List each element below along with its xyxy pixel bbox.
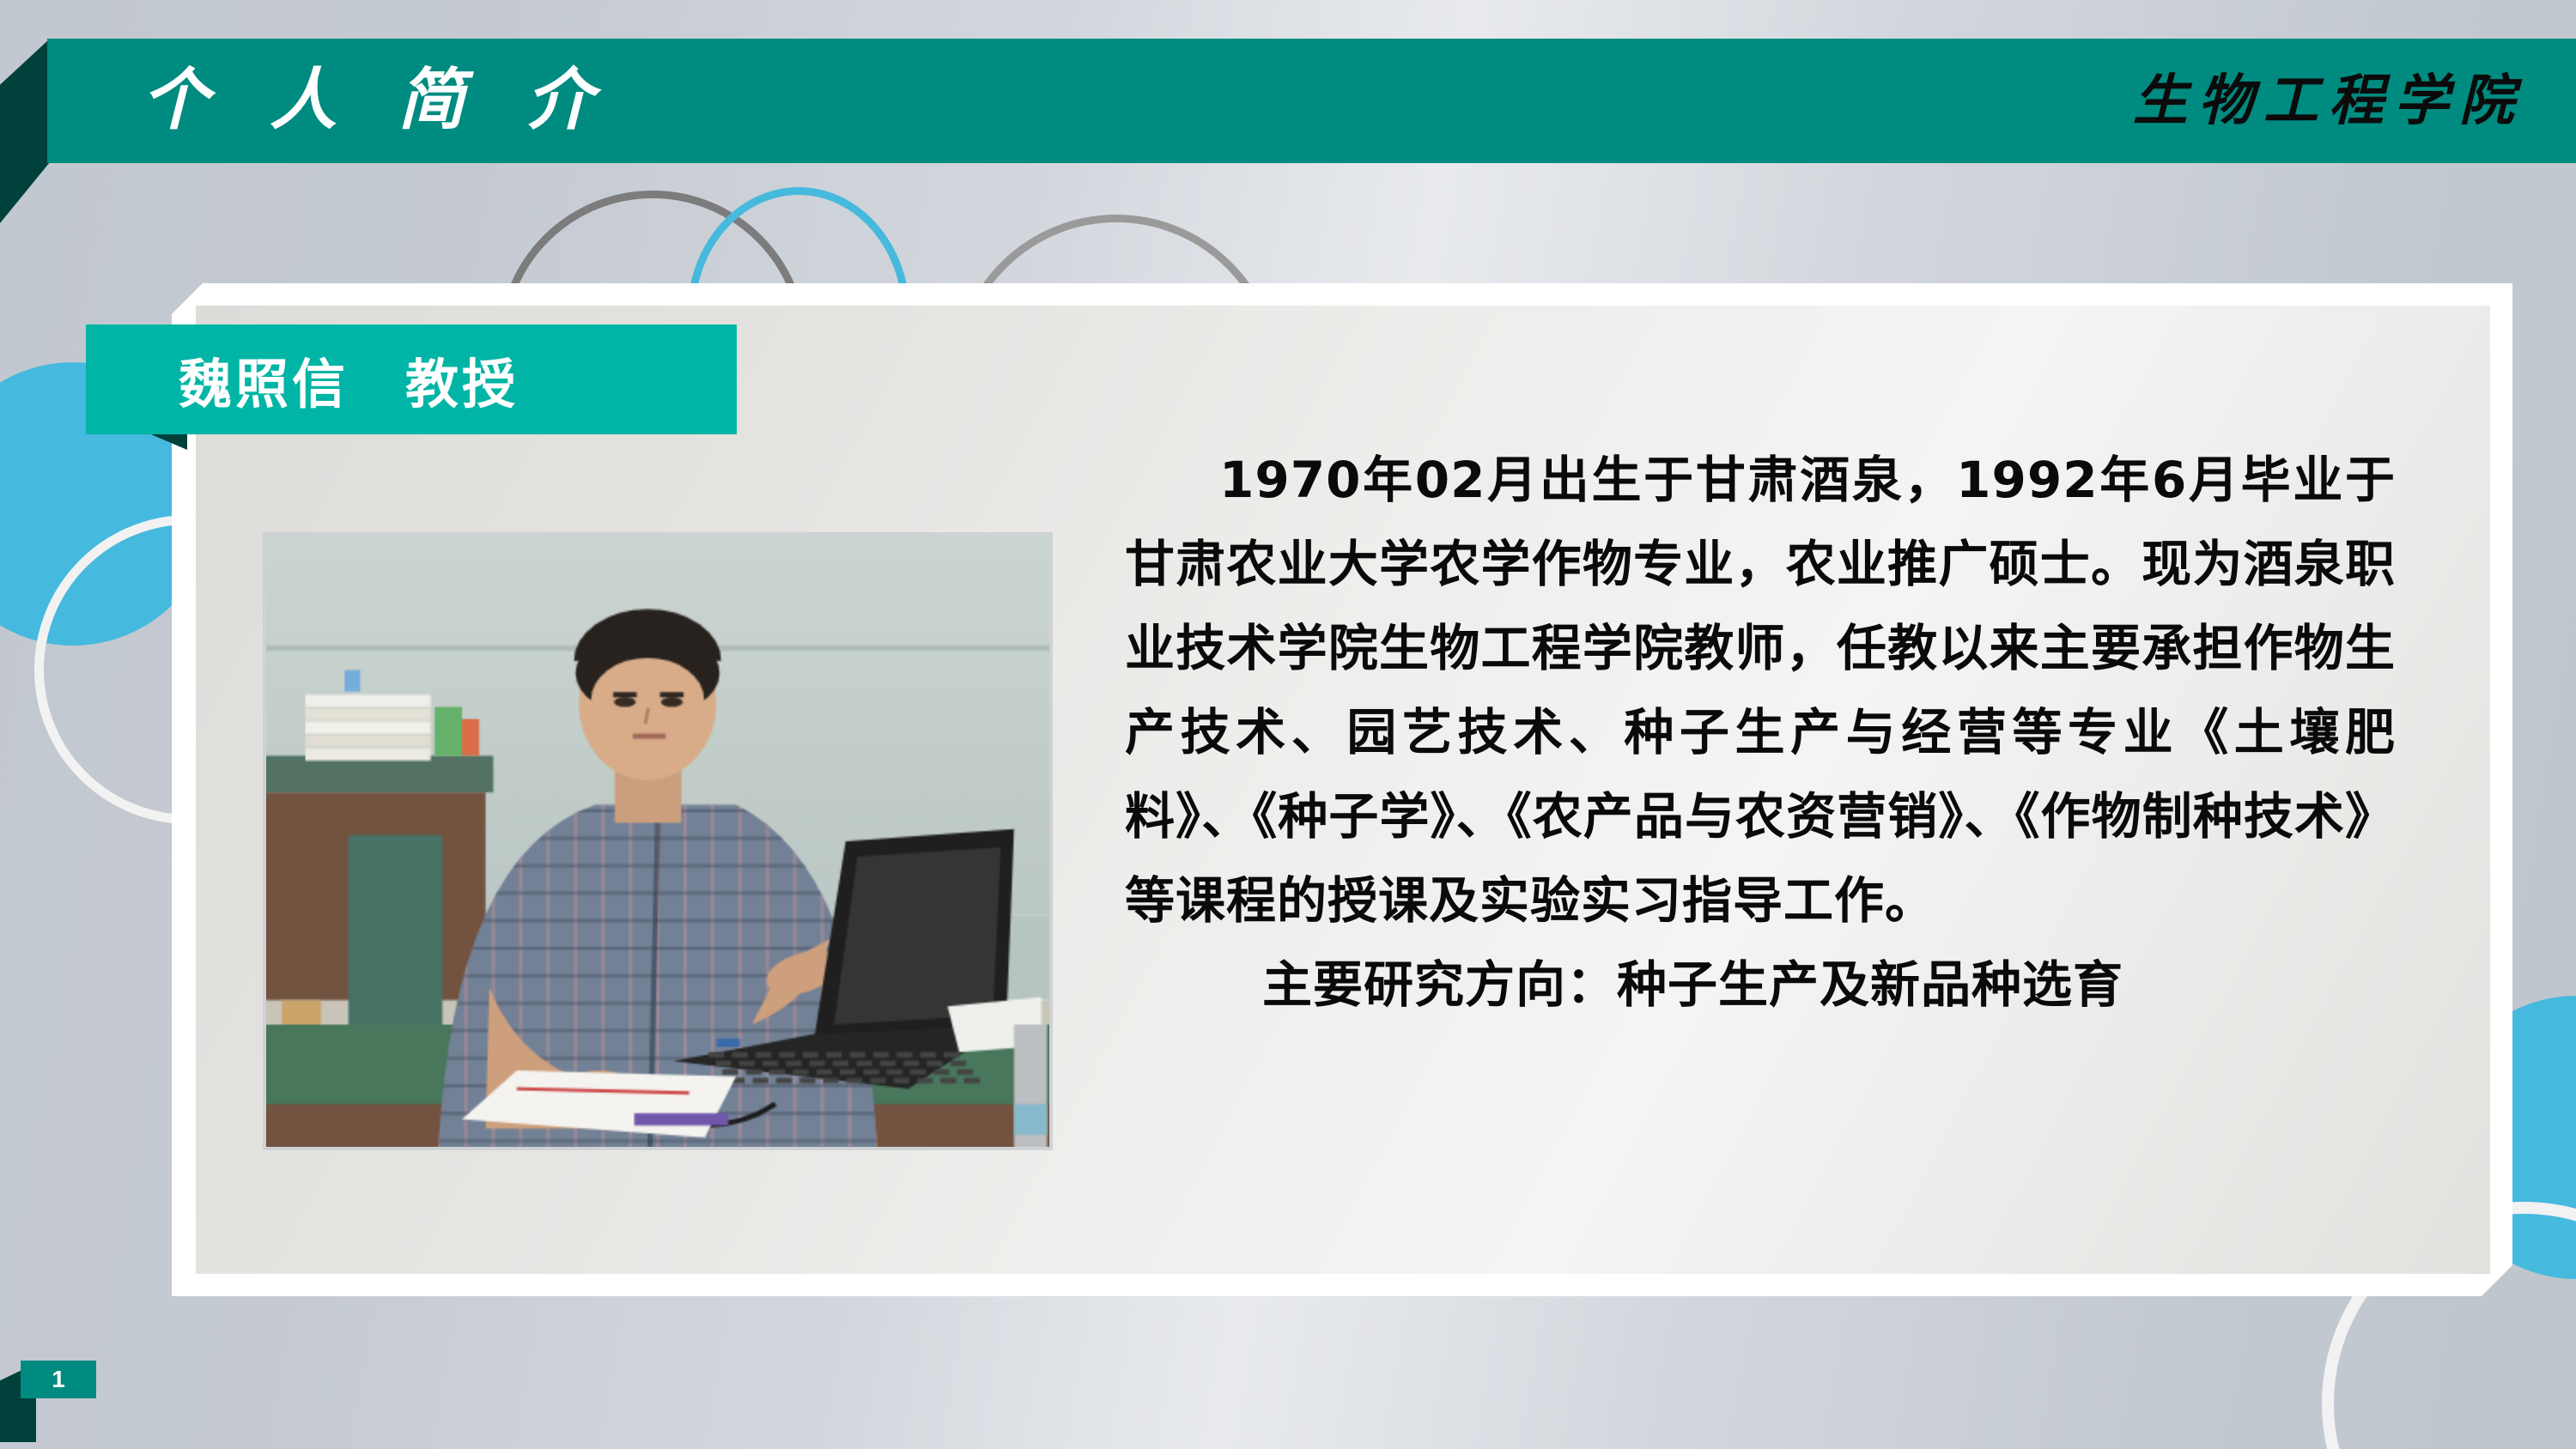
name-badge-label: 魏照信 教授	[86, 341, 519, 418]
page-number-tab: 1	[21, 1361, 96, 1398]
name-badge: 魏照信 教授	[86, 324, 737, 434]
header-banner: 个 人 简 介 生物工程学院	[47, 39, 2576, 163]
page-number-label: 1	[52, 1367, 65, 1391]
slide-canvas: 个 人 简 介 生物工程学院 魏照信 教授 1970年02月出生于甘肃酒泉，19…	[0, 0, 2576, 1449]
portrait-photo-canvas	[266, 536, 1049, 1147]
department-name: 生物工程学院	[2133, 51, 2524, 152]
page-title: 个 人 简 介	[142, 50, 611, 151]
header-ribbon-fold	[0, 39, 50, 223]
biography-text: 1970年02月出生于甘肃酒泉，1992年6月毕业于甘肃农业大学农学作物专业，农…	[1125, 438, 2396, 1027]
portrait-photo	[263, 532, 1053, 1150]
research-direction: 主要研究方向：种子生产及新品种选育	[1125, 943, 2396, 1027]
biography-paragraph: 1970年02月出生于甘肃酒泉，1992年6月毕业于甘肃农业大学农学作物专业，农…	[1125, 438, 2396, 943]
